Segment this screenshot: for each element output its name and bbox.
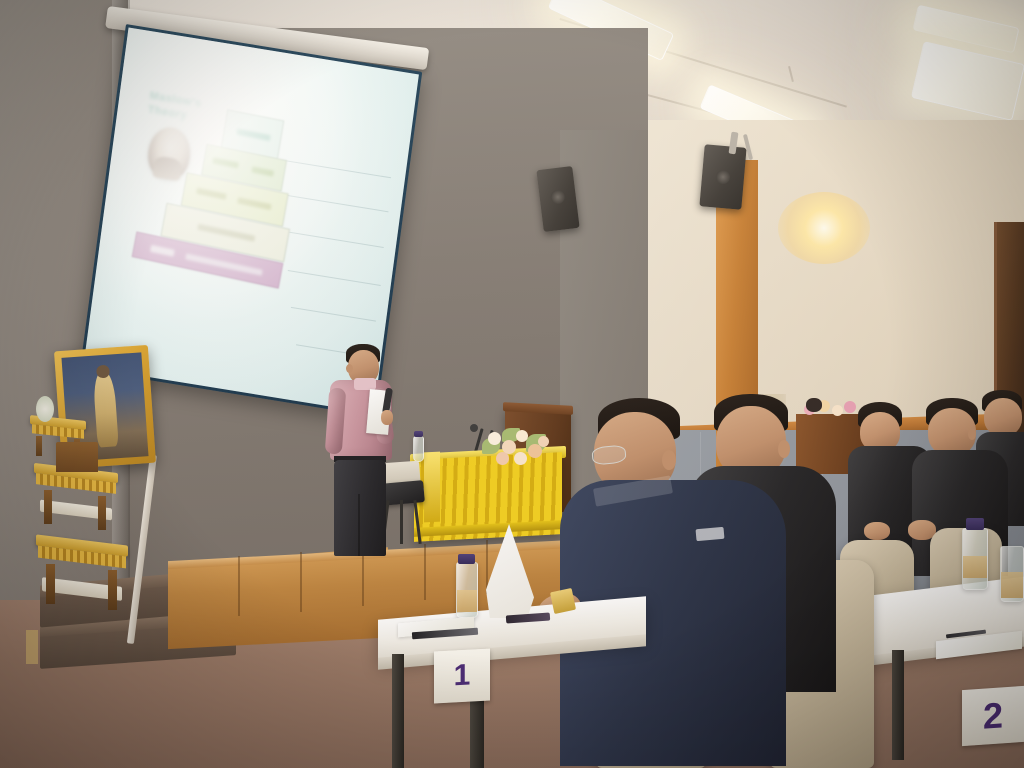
presenter-collar: [354, 378, 376, 390]
altar-table-lower: [36, 540, 128, 616]
presenter-trousers: [334, 460, 386, 556]
head-table-bottle[interactable]: [413, 436, 424, 462]
attendee-front-navy: [560, 398, 790, 768]
table-placard-1: 1: [434, 649, 490, 704]
flower-bloom: [496, 452, 509, 465]
attendee-logo-patch: [696, 527, 725, 541]
stage-panel-seam-1: [238, 556, 240, 616]
table-placard-1-number: 1: [454, 659, 471, 694]
attendee-ear: [662, 450, 676, 470]
head-table-sash: [424, 452, 440, 523]
attendee-hand: [864, 522, 890, 540]
flower-bloom: [538, 436, 549, 447]
altar-leg: [108, 570, 117, 610]
table-2-bottle-cap: [966, 518, 984, 530]
microphone-head-icon: [470, 424, 478, 432]
wall-speaker-right: [699, 144, 746, 209]
table-placard-2: 2: [962, 686, 1024, 746]
wall-sconce-light: [778, 192, 870, 264]
altar-leg: [36, 436, 42, 456]
altar-table-middle: [34, 468, 118, 540]
speaker-cone-icon: [715, 169, 730, 184]
attendee-ear: [968, 428, 976, 440]
table-placard-2-number: 2: [983, 694, 1003, 737]
altar-flower-vase: [36, 396, 54, 422]
conference-room-scene: Maslow's Theory: [0, 0, 1024, 768]
presenter-ear: [346, 364, 353, 373]
attendee-wristwatch: [550, 588, 576, 614]
presenter: [326, 344, 412, 560]
flower-bloom: [514, 452, 527, 465]
table-2-bottle-label: [963, 556, 987, 578]
presenter-hand: [381, 410, 393, 425]
wall-speaker-left: [536, 166, 579, 232]
presenter-trouser-seam: [358, 494, 360, 556]
chair-leg: [413, 500, 421, 544]
table-2-leg: [892, 650, 904, 760]
altar-leg: [44, 490, 52, 524]
table-2-glass-liquid: [1001, 572, 1023, 598]
table-1-leg-left: [392, 654, 404, 768]
altar-backrest: [56, 442, 98, 472]
table-1-bottle-cap: [458, 554, 475, 564]
speaker-cone-icon: [550, 189, 566, 205]
stage-step-trim: [26, 630, 38, 664]
table-1-bottle-label: [457, 590, 477, 612]
stage-panel-seam-4: [424, 544, 426, 600]
flower-bloom: [516, 430, 528, 442]
stage-panel-seam-2: [300, 552, 302, 612]
flower-bloom: [488, 432, 501, 445]
royal-figure: [93, 371, 119, 447]
head-table-bottle-cap: [414, 431, 423, 437]
altar-leg: [46, 564, 55, 604]
altar-leg: [98, 496, 106, 530]
floral-arrangement: [480, 424, 550, 472]
